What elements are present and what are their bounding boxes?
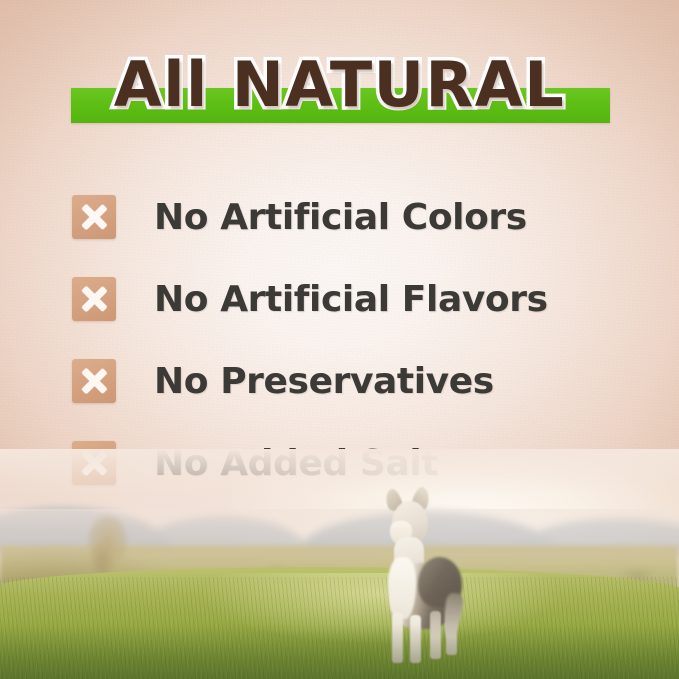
dog-chest	[388, 557, 416, 619]
claim-item-no-artificial-flavors: No Artificial Flavors	[72, 258, 632, 340]
claim-item-no-preservatives: No Preservatives	[72, 340, 632, 422]
claim-label: No Artificial Flavors	[154, 279, 548, 320]
x-mark-icon	[72, 277, 116, 321]
x-mark-icon	[72, 359, 116, 403]
landscape-photo	[0, 449, 679, 679]
x-mark-icon	[72, 195, 116, 239]
headline-title: All NATURAL	[0, 48, 679, 122]
claim-label: No Preservatives	[154, 361, 494, 402]
foreground-shadow	[0, 625, 679, 679]
claim-label: No Artificial Colors	[154, 197, 527, 238]
headline-banner: All NATURAL	[0, 48, 679, 132]
product-feature-poster: All NATURAL No Artificial Colors No Arti…	[0, 0, 679, 679]
claim-item-no-artificial-colors: No Artificial Colors	[72, 176, 632, 258]
